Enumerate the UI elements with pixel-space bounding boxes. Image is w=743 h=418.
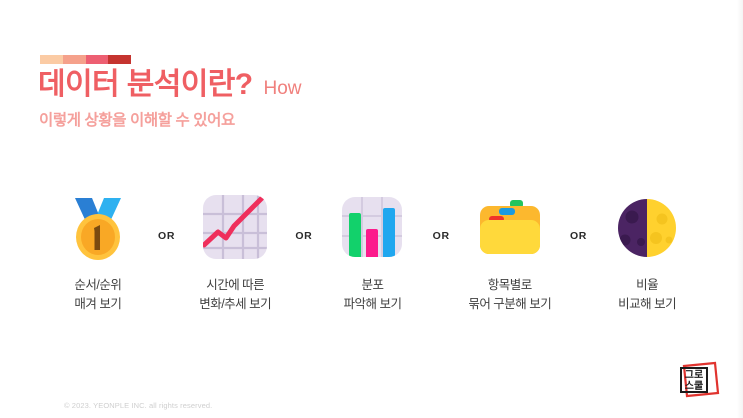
title-how-text: How xyxy=(263,78,301,100)
title-main-text: 데이터 분석이란? xyxy=(38,68,252,103)
page-subtitle: 이렇게 상황을 이해할 수 있어요 xyxy=(39,108,235,130)
caption-line-2: 묶어 구분해 보기 xyxy=(468,295,551,314)
accent-segment-3 xyxy=(86,55,109,64)
groschool-logo: 그로 스쿨 xyxy=(677,360,721,400)
method-item-grouping[interactable]: 항목별로 묶어 구분해 보기 xyxy=(452,190,568,315)
caption-line-2: 변화/추세 보기 xyxy=(199,295,271,314)
line-chart-icon xyxy=(198,190,272,264)
slide-canvas: 데이터 분석이란? How 이렇게 상황을 이해할 수 있어요 순서/순위 매겨… xyxy=(0,0,743,418)
accent-segment-4 xyxy=(108,55,131,64)
half-circle-ratio-icon xyxy=(610,190,684,264)
bar-chart-icon xyxy=(335,190,409,264)
caption-line-1: 시간에 따른 xyxy=(206,278,264,292)
separator-or-4: OR xyxy=(568,230,590,242)
copyright-text: © 2023. YEONPLE INC. all rights reserved… xyxy=(64,401,212,410)
separator-or-2: OR xyxy=(293,230,315,242)
method-caption: 순서/순위 매겨 보기 xyxy=(74,276,121,315)
logo-line-1: 그로 xyxy=(685,369,703,381)
method-caption: 시간에 따른 변화/추세 보기 xyxy=(199,276,271,315)
caption-line-1: 비율 xyxy=(636,278,658,292)
accent-segment-2 xyxy=(63,55,86,64)
gold-medal-icon xyxy=(61,190,135,264)
page-title: 데이터 분석이란? How xyxy=(38,68,301,103)
accent-segment-1 xyxy=(40,55,63,64)
method-caption: 항목별로 묶어 구분해 보기 xyxy=(468,276,551,315)
method-item-trend[interactable]: 시간에 따른 변화/추세 보기 xyxy=(177,190,293,315)
method-item-ratio[interactable]: 비율 비교해 보기 xyxy=(589,190,705,315)
caption-line-1: 순서/순위 xyxy=(74,278,121,292)
logo-line-2: 스쿨 xyxy=(685,380,703,392)
accent-bar xyxy=(40,55,131,64)
separator-or-1: OR xyxy=(156,230,178,242)
caption-line-2: 파악해 보기 xyxy=(344,295,402,314)
caption-line-2: 매겨 보기 xyxy=(74,295,121,314)
separator-or-3: OR xyxy=(430,230,452,242)
method-row: 순서/순위 매겨 보기 OR xyxy=(40,190,705,315)
method-item-ranking[interactable]: 순서/순위 매겨 보기 xyxy=(40,190,156,315)
method-caption: 비율 비교해 보기 xyxy=(618,276,676,315)
method-caption: 분포 파악해 보기 xyxy=(344,276,402,315)
method-item-distribution[interactable]: 분포 파악해 보기 xyxy=(315,190,431,315)
caption-line-2: 비교해 보기 xyxy=(618,295,676,314)
card-index-folder-icon xyxy=(473,190,547,264)
caption-line-1: 항목별로 xyxy=(488,278,532,292)
caption-line-1: 분포 xyxy=(361,278,383,292)
